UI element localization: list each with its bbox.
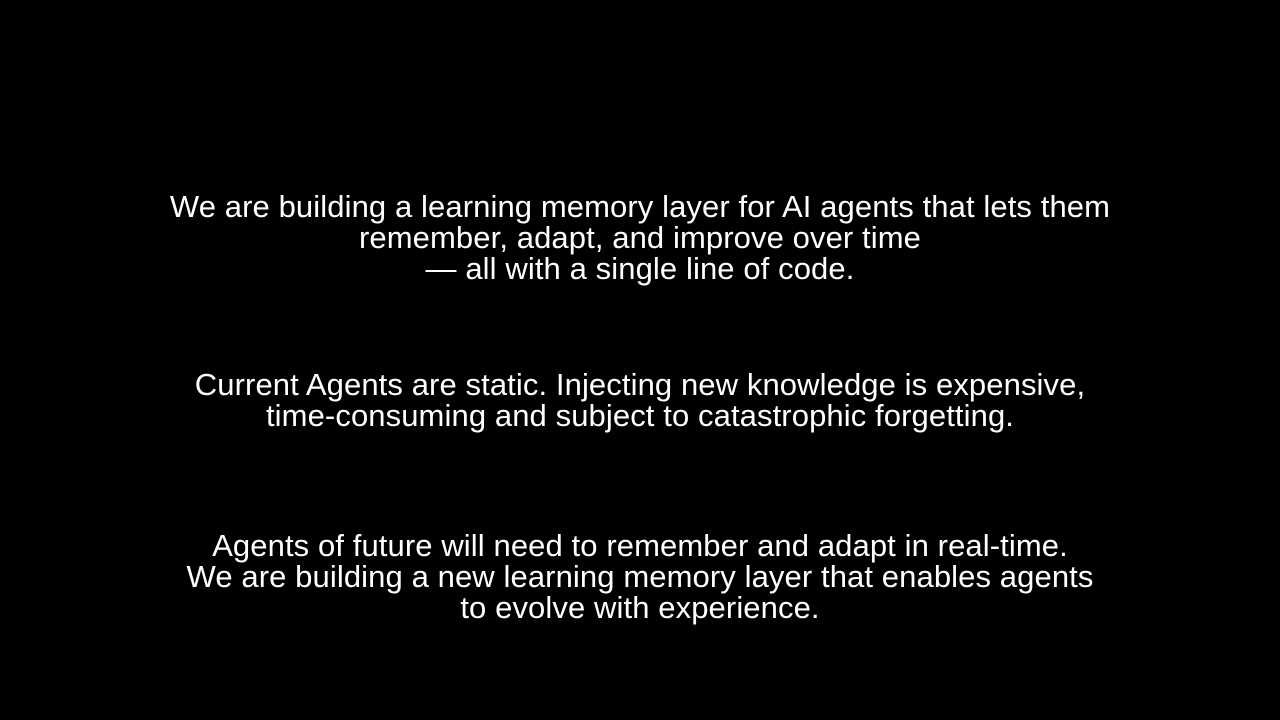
slide-text-stack: We are building a learning memory layer … [120,160,1160,654]
paragraph-problem-statement: Current Agents are static. Injecting new… [120,369,1160,431]
paragraph-solution-statement: Agents of future will need to remember a… [120,530,1160,623]
paragraph-vision-statement: We are building a learning memory layer … [120,191,1160,284]
presentation-slide: We are building a learning memory layer … [0,0,1280,720]
